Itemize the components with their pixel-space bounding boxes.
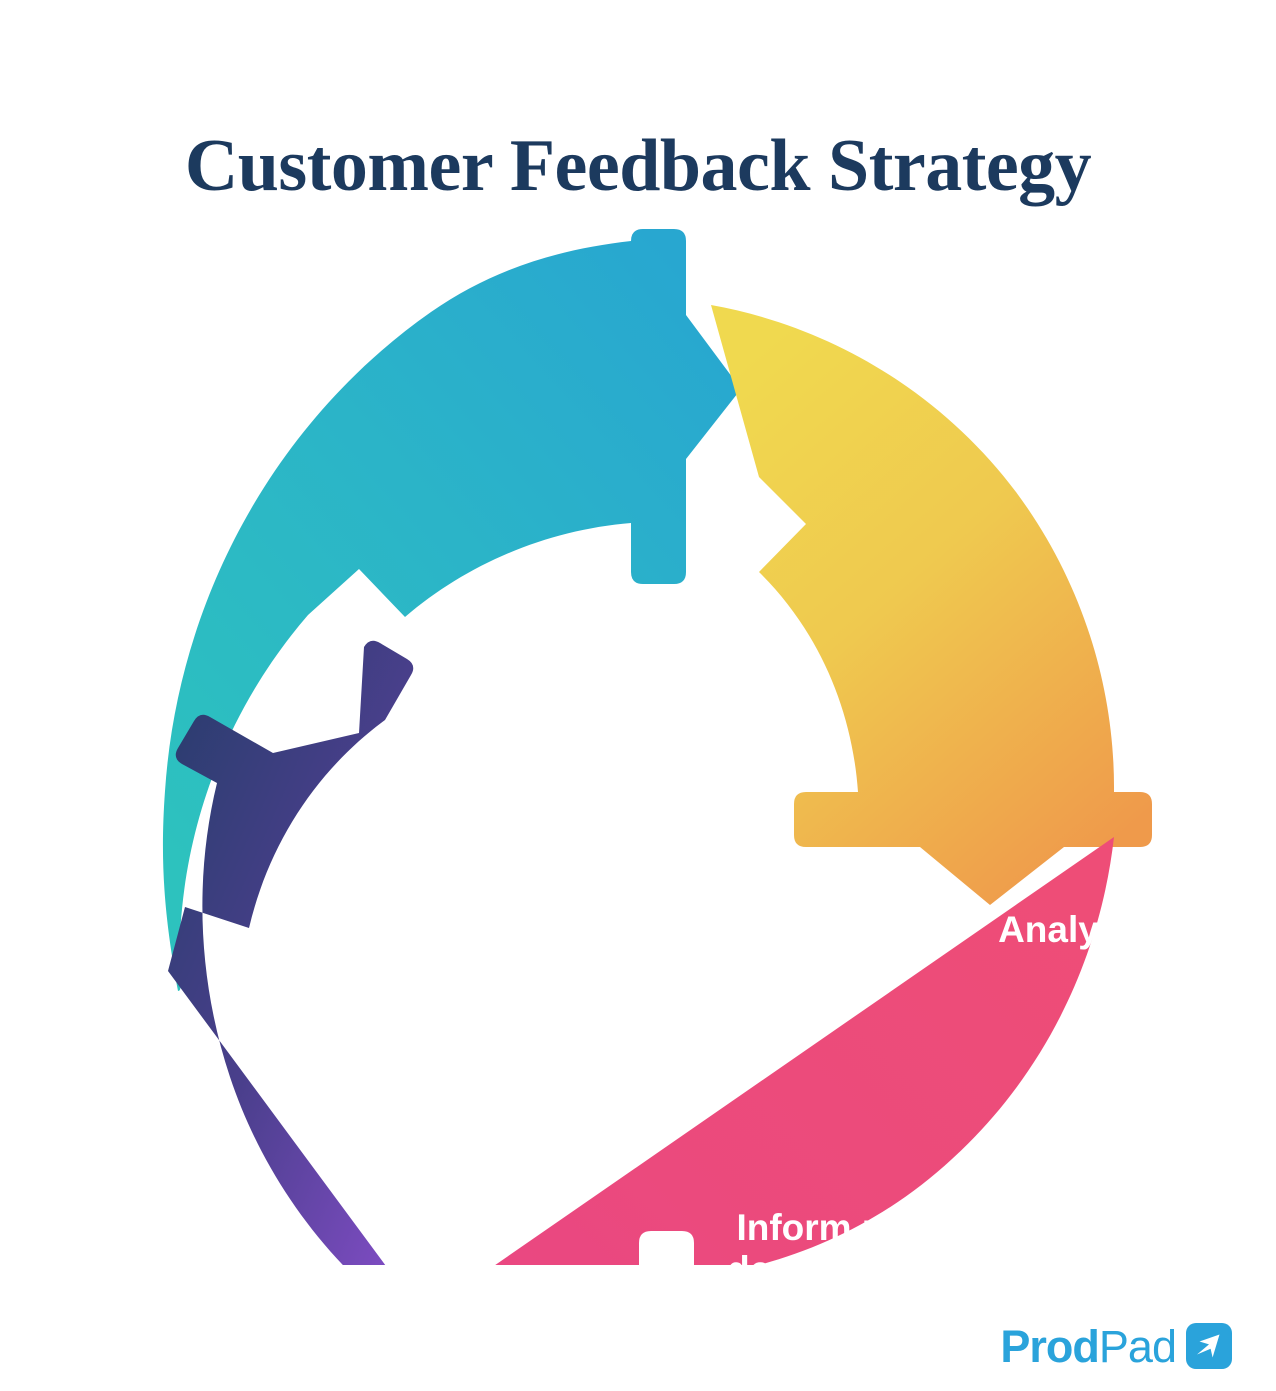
cycle-arrow-analyze-shape bbox=[711, 305, 1152, 905]
cycle-diagram: Gather Feedback Analyze Inform product d… bbox=[118, 215, 1158, 1265]
cycle-segment-respond-update-customer[interactable] bbox=[168, 641, 448, 1265]
cycle-diagram-svg bbox=[118, 215, 1158, 1265]
cycle-arrow-inform-shape bbox=[475, 837, 1114, 1265]
arrow-up-right-icon bbox=[1186, 1323, 1232, 1369]
cycle-segment-inform-product-decision-making[interactable] bbox=[475, 837, 1114, 1265]
prodpad-wordmark: ProdPad bbox=[1000, 1324, 1176, 1369]
cycle-segment-analyze[interactable] bbox=[711, 305, 1152, 905]
cycle-arrow-respond-shape bbox=[168, 641, 448, 1265]
prodpad-name-light: Pad bbox=[1099, 1321, 1176, 1372]
prodpad-name-bold: Prod bbox=[1000, 1321, 1099, 1372]
page-title: Customer Feedback Strategy bbox=[0, 128, 1276, 206]
prodpad-logo[interactable]: ProdPad bbox=[1000, 1323, 1232, 1369]
